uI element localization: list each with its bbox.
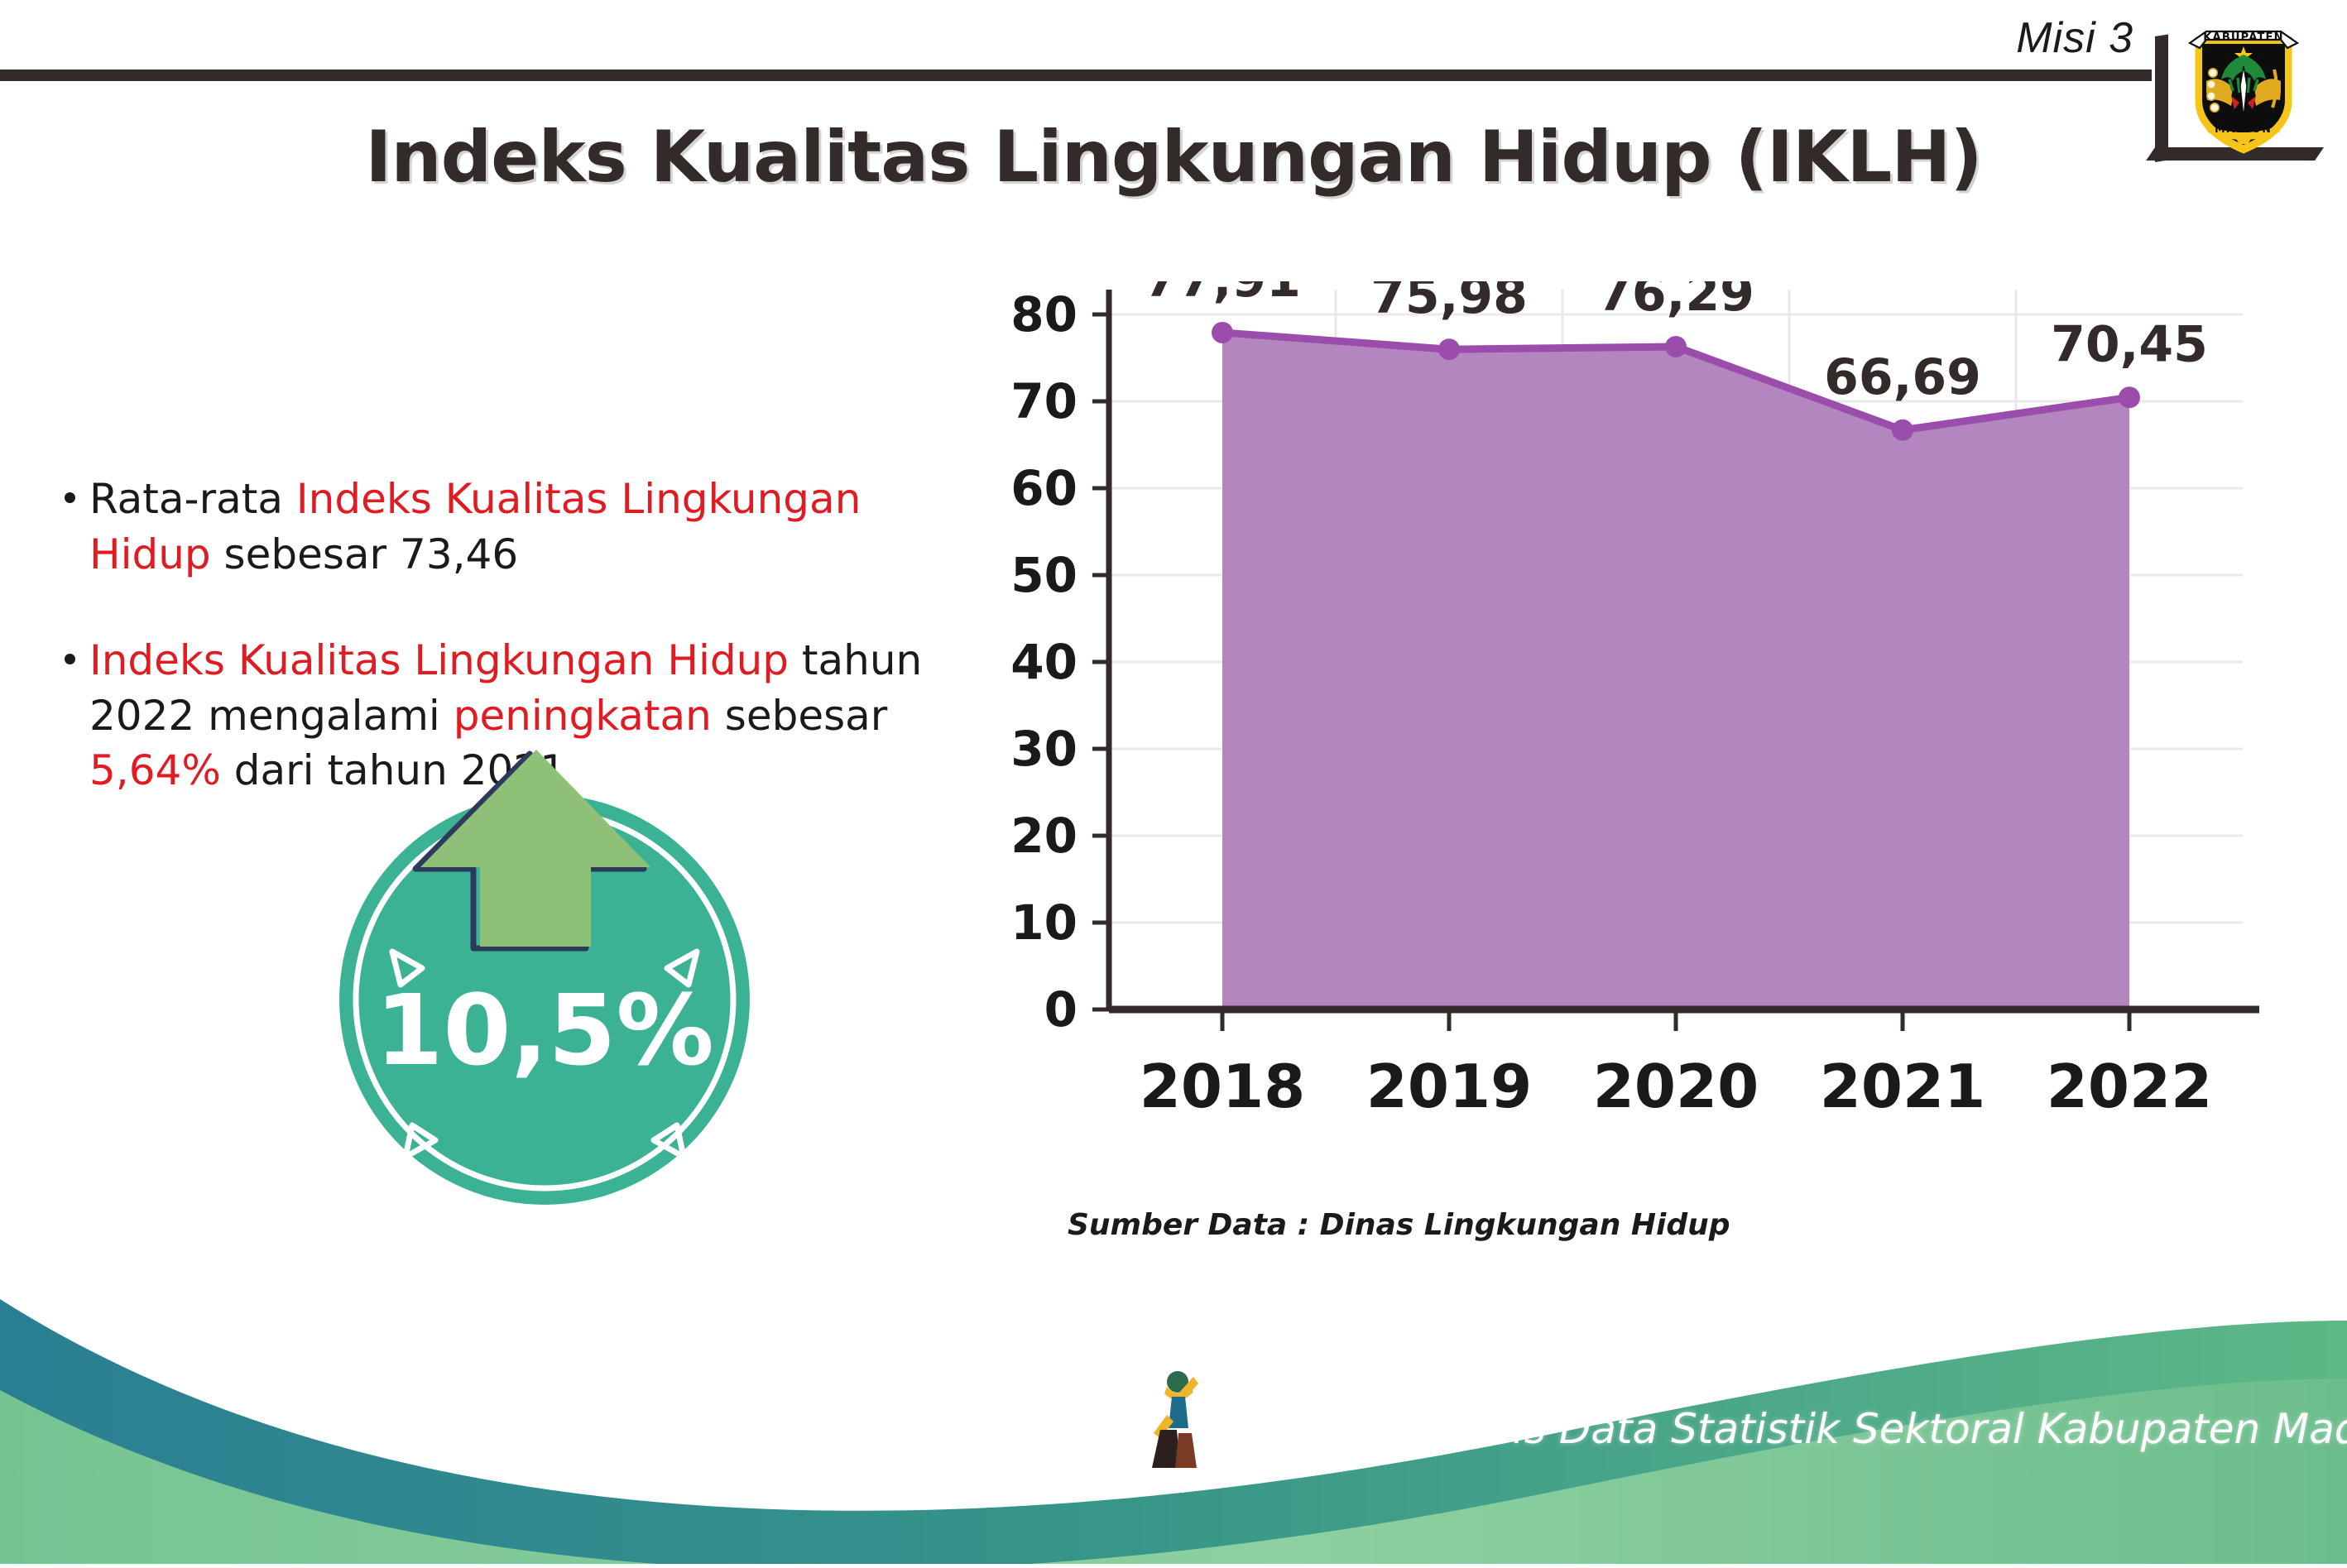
source-note: Sumber Data : Dinas Lingkungan Hidup <box>1068 1208 1730 1242</box>
data-point-marker[interactable] <box>1212 322 1233 343</box>
y-axis-label: 70 <box>1010 373 1078 429</box>
plain-text: sebesar 73,46 <box>211 530 518 578</box>
iklh-area-chart: 77,9175,9876,2966,6970,45010203040506070… <box>977 281 2268 1208</box>
x-axis-label: 2018 <box>1140 1052 1305 1121</box>
misi-label: Misi 3 <box>2016 13 2133 63</box>
infographic-page: Misi 3 KABUPATEN <box>0 0 2347 1564</box>
x-axis-label: 2022 <box>2047 1052 2212 1121</box>
data-point-label: 75,98 <box>1370 281 1528 325</box>
y-axis-label: 40 <box>1010 634 1078 690</box>
area-fill <box>1222 333 2129 1009</box>
highlighted-text: 5,64% <box>89 746 221 794</box>
footer-caption: Media Infografis Data Statistik Sektoral… <box>1213 1405 2347 1453</box>
data-point-label: 76,29 <box>1597 281 1754 323</box>
y-axis-label: 20 <box>1010 808 1078 864</box>
data-point-marker[interactable] <box>2119 386 2140 408</box>
y-axis-label: 60 <box>1010 460 1078 516</box>
media-infografis-mascot-icon <box>1142 1364 1213 1471</box>
increase-badge: 10,5% <box>313 743 776 1206</box>
y-axis-label: 80 <box>1010 286 1078 343</box>
data-point-label: 77,91 <box>1144 281 1301 309</box>
x-axis-label: 2019 <box>1366 1052 1532 1121</box>
badge-value: 10,5% <box>375 973 713 1087</box>
data-point-marker[interactable] <box>1892 420 1913 441</box>
page-title: Indeks Kualitas Lingkungan Hidup (IKLH) <box>0 116 2347 199</box>
highlighted-text: Indeks Kualitas Lingkungan Hidup <box>89 636 789 684</box>
data-point-marker[interactable] <box>1438 338 1460 360</box>
data-point-label: 66,69 <box>1824 348 1981 406</box>
bullet-item-0: Rata-rata Indeks Kualitas Lingkungan Hid… <box>65 472 967 582</box>
header-rule <box>0 70 2152 81</box>
svg-text:KABUPATEN: KABUPATEN <box>2203 31 2283 44</box>
x-axis-label: 2020 <box>1593 1052 1759 1121</box>
plain-text: Rata-rata <box>89 475 296 523</box>
y-axis-label: 10 <box>1010 894 1078 951</box>
y-axis-label: 30 <box>1010 721 1078 777</box>
y-axis-label: 0 <box>1044 981 1078 1038</box>
bullet-dot-icon <box>65 492 75 503</box>
x-axis-label: 2021 <box>1820 1052 1985 1121</box>
bullet-text-0: Rata-rata Indeks Kualitas Lingkungan Hid… <box>89 475 861 578</box>
data-point-label: 70,45 <box>2051 315 2208 373</box>
bullet-dot-icon <box>65 654 75 664</box>
highlighted-text: peningkatan <box>454 692 712 740</box>
data-point-marker[interactable] <box>1665 336 1687 357</box>
y-axis-label: 50 <box>1010 547 1078 603</box>
plain-text: sebesar <box>712 692 887 740</box>
